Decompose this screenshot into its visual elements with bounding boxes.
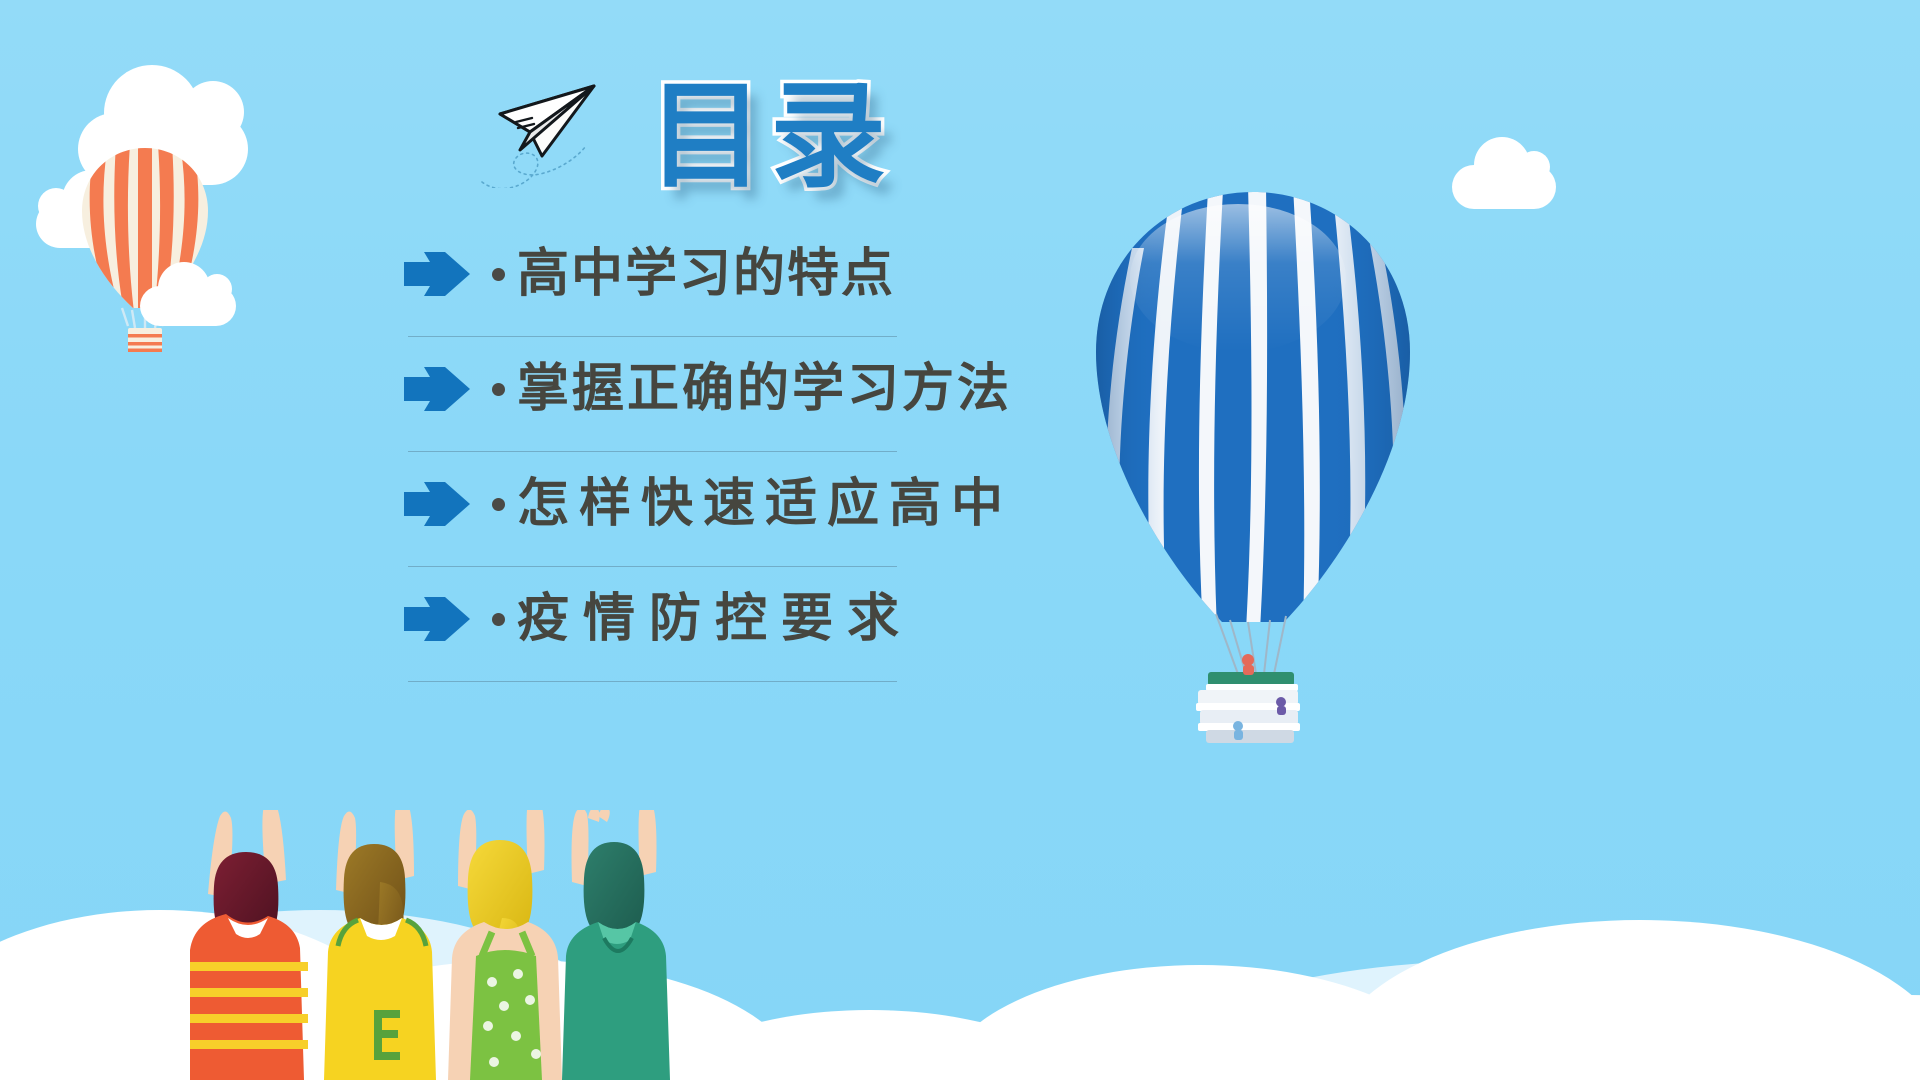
toc-separator xyxy=(408,566,897,567)
toc-bullet-dot xyxy=(492,498,505,511)
hot-air-balloon-blue-icon xyxy=(1088,186,1418,746)
toc-separator xyxy=(408,681,897,682)
toc-item-2[interactable]: 掌握正确的学习方法 xyxy=(404,343,1104,458)
toc-item-label: 高中学习的特点 xyxy=(517,248,895,300)
toc-list: 高中学习的特点 掌握正确的学习方法 怎样快速适应高中 xyxy=(404,228,1104,688)
arrow-right-icon xyxy=(404,248,470,300)
toc-separator xyxy=(408,451,897,452)
toc-item-label: 疫情防控要求 xyxy=(517,593,913,645)
toc-bullet-dot xyxy=(492,613,505,626)
toc-item-4[interactable]: 疫情防控要求 xyxy=(404,573,1104,688)
toc-item-label: 怎样快速适应高中 xyxy=(517,478,1013,530)
toc-item-1[interactable]: 高中学习的特点 xyxy=(404,228,1104,343)
arrow-right-icon xyxy=(404,363,470,415)
toc-bullet-dot xyxy=(492,383,505,396)
hot-air-balloon-orange-icon xyxy=(82,148,208,358)
title-block: 目录 xyxy=(470,70,990,200)
cloud-topleft-icon xyxy=(78,113,248,185)
cloud-bank-bottom xyxy=(0,780,1920,1080)
toc-item-3[interactable]: 怎样快速适应高中 xyxy=(404,458,1104,573)
cloud-right-icon xyxy=(1452,165,1556,209)
paper-plane-icon xyxy=(470,78,650,188)
cloud-midleft-icon xyxy=(36,200,148,248)
slide-canvas: 目录 高中学习的特点 掌握正确的学习方法 xyxy=(0,0,1920,1080)
toc-item-label: 掌握正确的学习方法 xyxy=(517,363,1012,415)
toc-separator xyxy=(408,336,897,337)
page-title: 目录 xyxy=(648,64,892,209)
toc-bullet-dot xyxy=(492,268,505,281)
students-cheering-illustration xyxy=(190,810,710,1080)
arrow-right-icon xyxy=(404,478,470,530)
cloud-under-balloon-icon xyxy=(140,286,236,326)
arrow-right-icon xyxy=(404,593,470,645)
